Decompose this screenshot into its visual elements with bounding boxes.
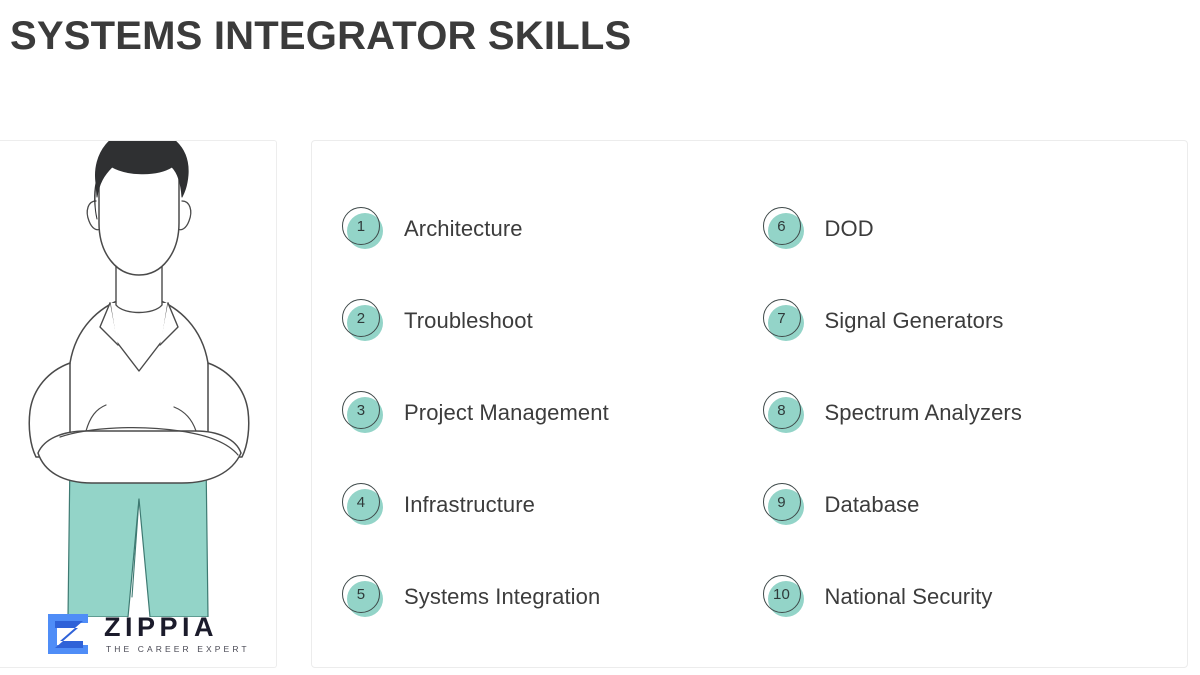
skill-label: Spectrum Analyzers (825, 402, 1022, 424)
skill-number-badge: 8 (763, 391, 807, 435)
skill-number: 3 (342, 391, 380, 429)
skill-number: 9 (763, 483, 801, 521)
skill-number: 2 (342, 299, 380, 337)
page-title: SYSTEMS INTEGRATOR SKILLS (10, 14, 631, 58)
skill-number: 8 (763, 391, 801, 429)
illustration-card (0, 140, 277, 668)
skill-label: Systems Integration (404, 586, 600, 608)
skill-number-badge: 2 (342, 299, 386, 343)
skills-grid: 1 Architecture 6 DOD 2 Troubleshoot (342, 183, 1167, 643)
skill-item-1[interactable]: 1 Architecture (342, 183, 747, 275)
skill-item-8[interactable]: 8 Spectrum Analyzers (763, 367, 1168, 459)
skill-label: Troubleshoot (404, 310, 533, 332)
zippia-wordmark: ZIPPIA (104, 614, 218, 641)
skill-label: Infrastructure (404, 494, 535, 516)
skill-item-2[interactable]: 2 Troubleshoot (342, 275, 747, 367)
skill-item-9[interactable]: 9 Database (763, 459, 1168, 551)
skill-item-3[interactable]: 3 Project Management (342, 367, 747, 459)
skill-number: 10 (763, 575, 801, 613)
skills-panel: 1 Architecture 6 DOD 2 Troubleshoot (311, 140, 1188, 668)
skill-number-badge: 5 (342, 575, 386, 619)
skill-number-badge: 6 (763, 207, 807, 251)
skill-label: National Security (825, 586, 993, 608)
skill-item-6[interactable]: 6 DOD (763, 183, 1168, 275)
skill-number-badge: 9 (763, 483, 807, 527)
zippia-logo[interactable]: ZIPPIA THE CAREER EXPERT (44, 610, 250, 658)
skill-label: Project Management (404, 402, 609, 424)
zippia-tagline: THE CAREER EXPERT (106, 645, 250, 654)
skill-label: Signal Generators (825, 310, 1004, 332)
skill-number-badge: 3 (342, 391, 386, 435)
skill-item-7[interactable]: 7 Signal Generators (763, 275, 1168, 367)
infographic-page: SYSTEMS INTEGRATOR SKILLS (0, 0, 1200, 675)
skill-item-4[interactable]: 4 Infrastructure (342, 459, 747, 551)
skill-number-badge: 1 (342, 207, 386, 251)
skill-number-badge: 4 (342, 483, 386, 527)
skill-item-5[interactable]: 5 Systems Integration (342, 551, 747, 643)
skill-number: 5 (342, 575, 380, 613)
zippia-logo-mark (44, 610, 92, 658)
skill-number: 7 (763, 299, 801, 337)
skill-number: 6 (763, 207, 801, 245)
skill-label: DOD (825, 218, 874, 240)
skill-number: 4 (342, 483, 380, 521)
skill-item-10[interactable]: 10 National Security (763, 551, 1168, 643)
man-with-crossed-arms-illustration (0, 140, 277, 617)
skill-number: 1 (342, 207, 380, 245)
skill-label: Architecture (404, 218, 523, 240)
zippia-wordblock: ZIPPIA THE CAREER EXPERT (104, 614, 250, 654)
skill-label: Database (825, 494, 920, 516)
skill-number-badge: 7 (763, 299, 807, 343)
skill-number-badge: 10 (763, 575, 807, 619)
